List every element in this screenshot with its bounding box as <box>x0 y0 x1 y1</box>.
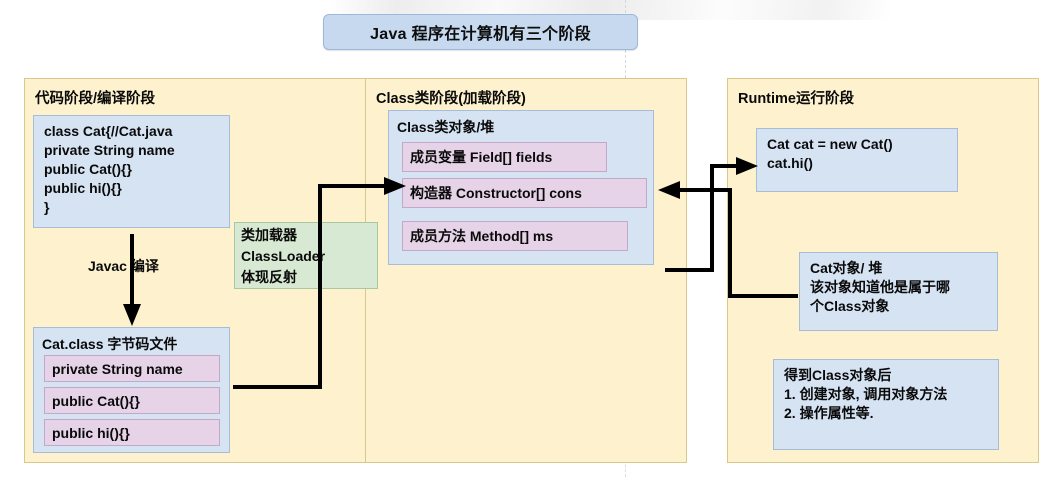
arrow-bytecode-to-class-object <box>233 177 406 387</box>
arrow-cat-object-to-class-object <box>658 181 798 296</box>
diagram-canvas: Java 程序在计算机有三个阶段 代码阶段/编译阶段 class Cat{//C… <box>0 0 1063 477</box>
arrow-javac-compile <box>123 234 141 326</box>
arrow-class-object-to-runtime <box>665 157 758 270</box>
connector-layer <box>0 0 1063 477</box>
